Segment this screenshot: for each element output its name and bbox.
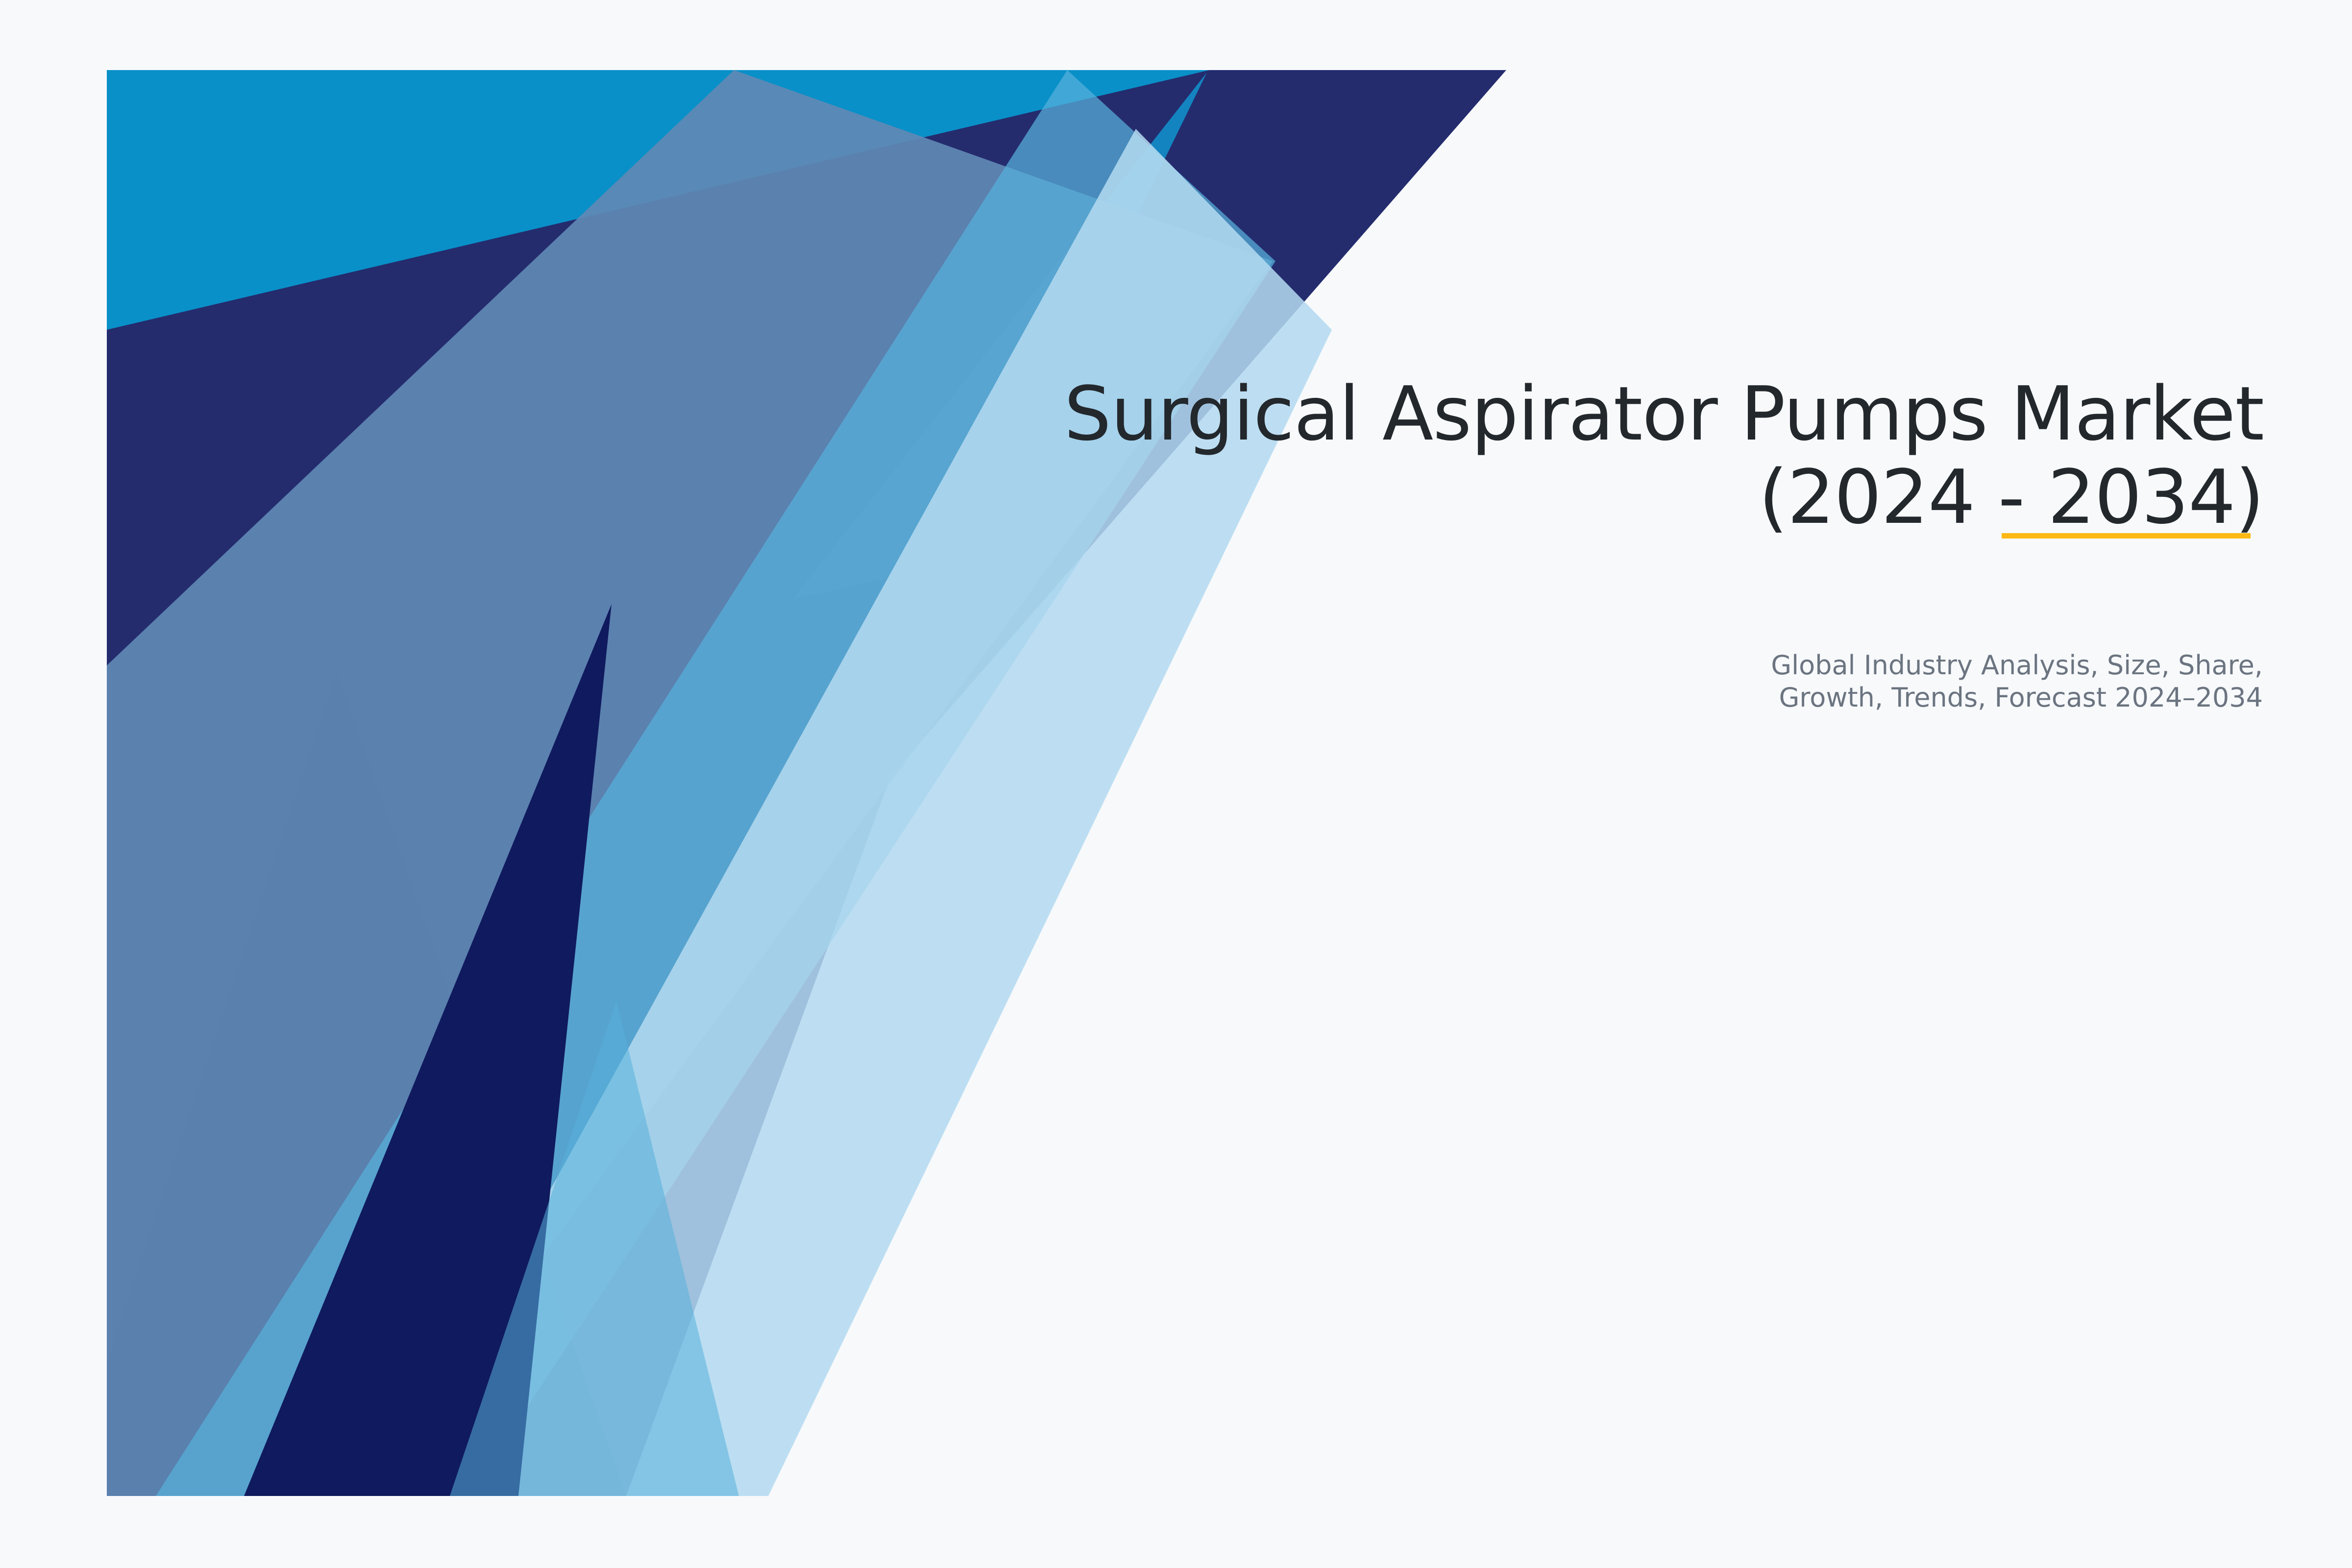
page-title: Surgical Aspirator Pumps Market (2024 - … [1029, 372, 2264, 539]
cover-artwork [107, 70, 1506, 1496]
artwork-svg [107, 70, 1506, 1496]
title-block: Surgical Aspirator Pumps Market (2024 - … [1029, 372, 2264, 539]
report-cover: Surgical Aspirator Pumps Market (2024 - … [0, 0, 2352, 1568]
title-accent-underline [2002, 533, 2251, 539]
page-subtitle: Global Industry Analysis, Size, Share, G… [1225, 649, 2263, 714]
